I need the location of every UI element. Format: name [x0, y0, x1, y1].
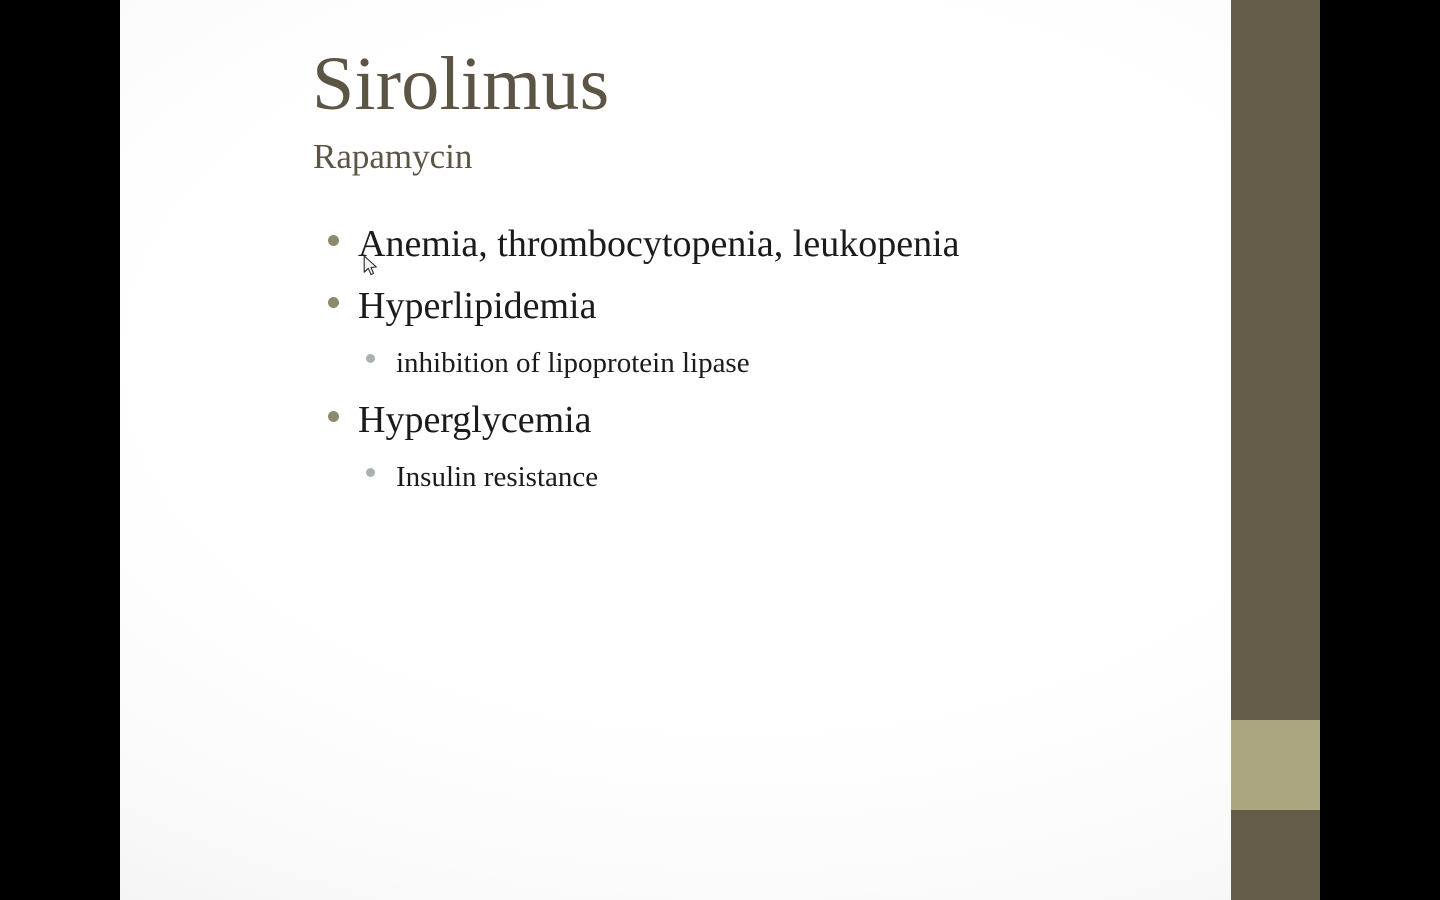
bullet-marker-icon [328, 235, 339, 246]
list-item: Hyperglycemia [312, 391, 1232, 449]
bullet-marker-icon [328, 297, 339, 308]
list-item-label: Insulin resistance [396, 453, 598, 501]
list-item: Insulin resistance [312, 453, 1232, 501]
bullet-marker-icon [366, 468, 375, 477]
list-item: Anemia, thrombocytopenia, leukopenia [312, 215, 1232, 273]
slide-bullet-list: Anemia, thrombocytopenia, leukopenia Hyp… [312, 215, 1232, 505]
decorative-sidebar-top [1231, 0, 1320, 720]
list-item: Hyperlipidemia [312, 277, 1232, 335]
letterbox-left [0, 0, 120, 900]
decorative-sidebar-bottom [1231, 810, 1320, 900]
bullet-marker-icon [366, 354, 375, 363]
letterbox-right [1320, 0, 1440, 900]
presentation-viewer: Sirolimus Rapamycin Anemia, thrombocytop… [0, 0, 1440, 900]
slide-title: Sirolimus [312, 46, 609, 122]
list-item-label: Hyperglycemia [358, 391, 592, 449]
decorative-sidebar-accent [1231, 720, 1320, 810]
slide-canvas[interactable]: Sirolimus Rapamycin Anemia, thrombocytop… [120, 0, 1320, 900]
list-item-label: Hyperlipidemia [358, 277, 596, 335]
list-item: inhibition of lipoprotein lipase [312, 339, 1232, 387]
list-item-label: inhibition of lipoprotein lipase [396, 339, 750, 387]
list-item-label: Anemia, thrombocytopenia, leukopenia [358, 215, 960, 273]
bullet-marker-icon [328, 411, 339, 422]
slide-subtitle: Rapamycin [313, 139, 472, 174]
